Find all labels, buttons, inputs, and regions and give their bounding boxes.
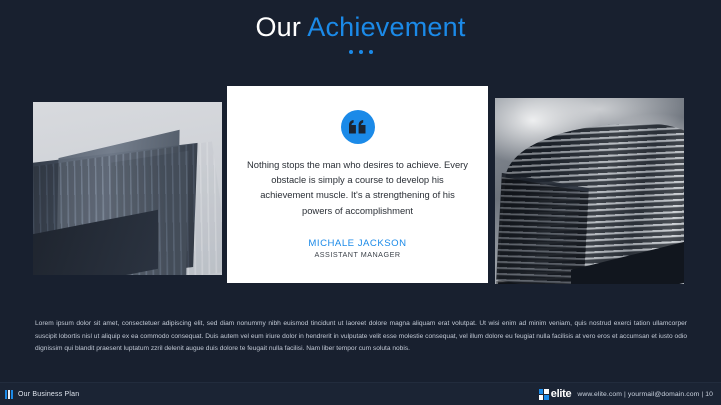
quotation-mark-icon (341, 110, 375, 144)
body-paragraph: Lorem ipsum dolor sit amet, consectetuer… (35, 318, 687, 356)
slide-canvas: Our Achievement (0, 0, 721, 405)
decor-dots (0, 50, 721, 54)
author-role: ASSISTANT MANAGER (227, 250, 488, 259)
elite-mark-icon (539, 389, 549, 400)
bars-logo-icon (5, 390, 13, 399)
left-photo-art (33, 102, 222, 275)
dot-icon (349, 50, 353, 54)
footer-contact-text: www.elite.com | yourmail@domain.com | 10 (577, 391, 713, 398)
quote-attribution: MICHALE JACKSON ASSISTANT MANAGER (227, 238, 488, 259)
quote-text: Nothing stops the man who desires to ach… (247, 157, 468, 218)
quote-card: Nothing stops the man who desires to ach… (227, 86, 488, 283)
dot-icon (369, 50, 373, 54)
elite-logo: elite (539, 388, 572, 400)
right-building-photo (495, 98, 684, 284)
dot-icon (359, 50, 363, 54)
footer-left-group: Our Business Plan (5, 383, 79, 405)
title-block: Our Achievement (0, 13, 721, 54)
slide-footer: Our Business Plan elite www.elite.com | … (0, 382, 721, 405)
right-photo-art (495, 98, 684, 284)
tower-dark-facet-bands (496, 176, 589, 284)
page-title: Our Achievement (0, 13, 721, 41)
page-title-white: Our (255, 12, 301, 42)
left-building-photo (33, 102, 222, 275)
footer-right-group: elite www.elite.com | yourmail@domain.co… (539, 383, 713, 405)
footer-deck-label: Our Business Plan (18, 391, 79, 398)
page-title-accent: Achievement (307, 12, 465, 42)
author-name: MICHALE JACKSON (227, 238, 488, 249)
elite-wordmark: elite (551, 388, 572, 400)
